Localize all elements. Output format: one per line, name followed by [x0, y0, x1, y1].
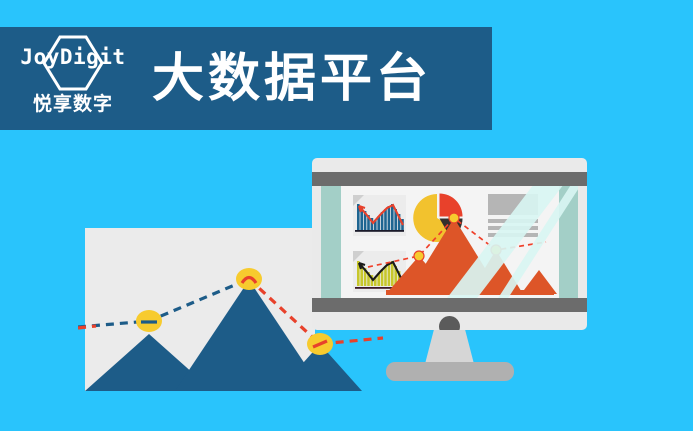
monitor-stand	[425, 330, 474, 364]
brand-logo: JoyDigit 悦享数字	[12, 33, 134, 125]
monitor-top-bar	[312, 172, 587, 186]
logo-wordmark: JoyDigit	[12, 47, 134, 68]
orange-mountain-chart	[341, 186, 559, 298]
data-marker	[236, 268, 262, 290]
monitor-screen	[321, 186, 578, 298]
monitor-bottom-bar	[312, 298, 587, 312]
page-title: 大数据平台	[152, 53, 432, 105]
poster-canvas: JoyDigit 悦享数字 大数据平台	[0, 0, 693, 431]
logo-subtext: 悦享数字	[12, 95, 134, 114]
data-marker	[136, 310, 162, 332]
data-marker	[414, 251, 424, 261]
data-marker	[449, 213, 459, 223]
header-banner: JoyDigit 悦享数字 大数据平台	[0, 27, 492, 130]
orange-baseline	[386, 290, 554, 295]
desktop-monitor	[312, 158, 587, 388]
trend-line-left-stub	[78, 326, 96, 328]
monitor-base	[386, 362, 514, 381]
dashboard-surface	[341, 186, 559, 298]
data-marker	[491, 245, 501, 255]
